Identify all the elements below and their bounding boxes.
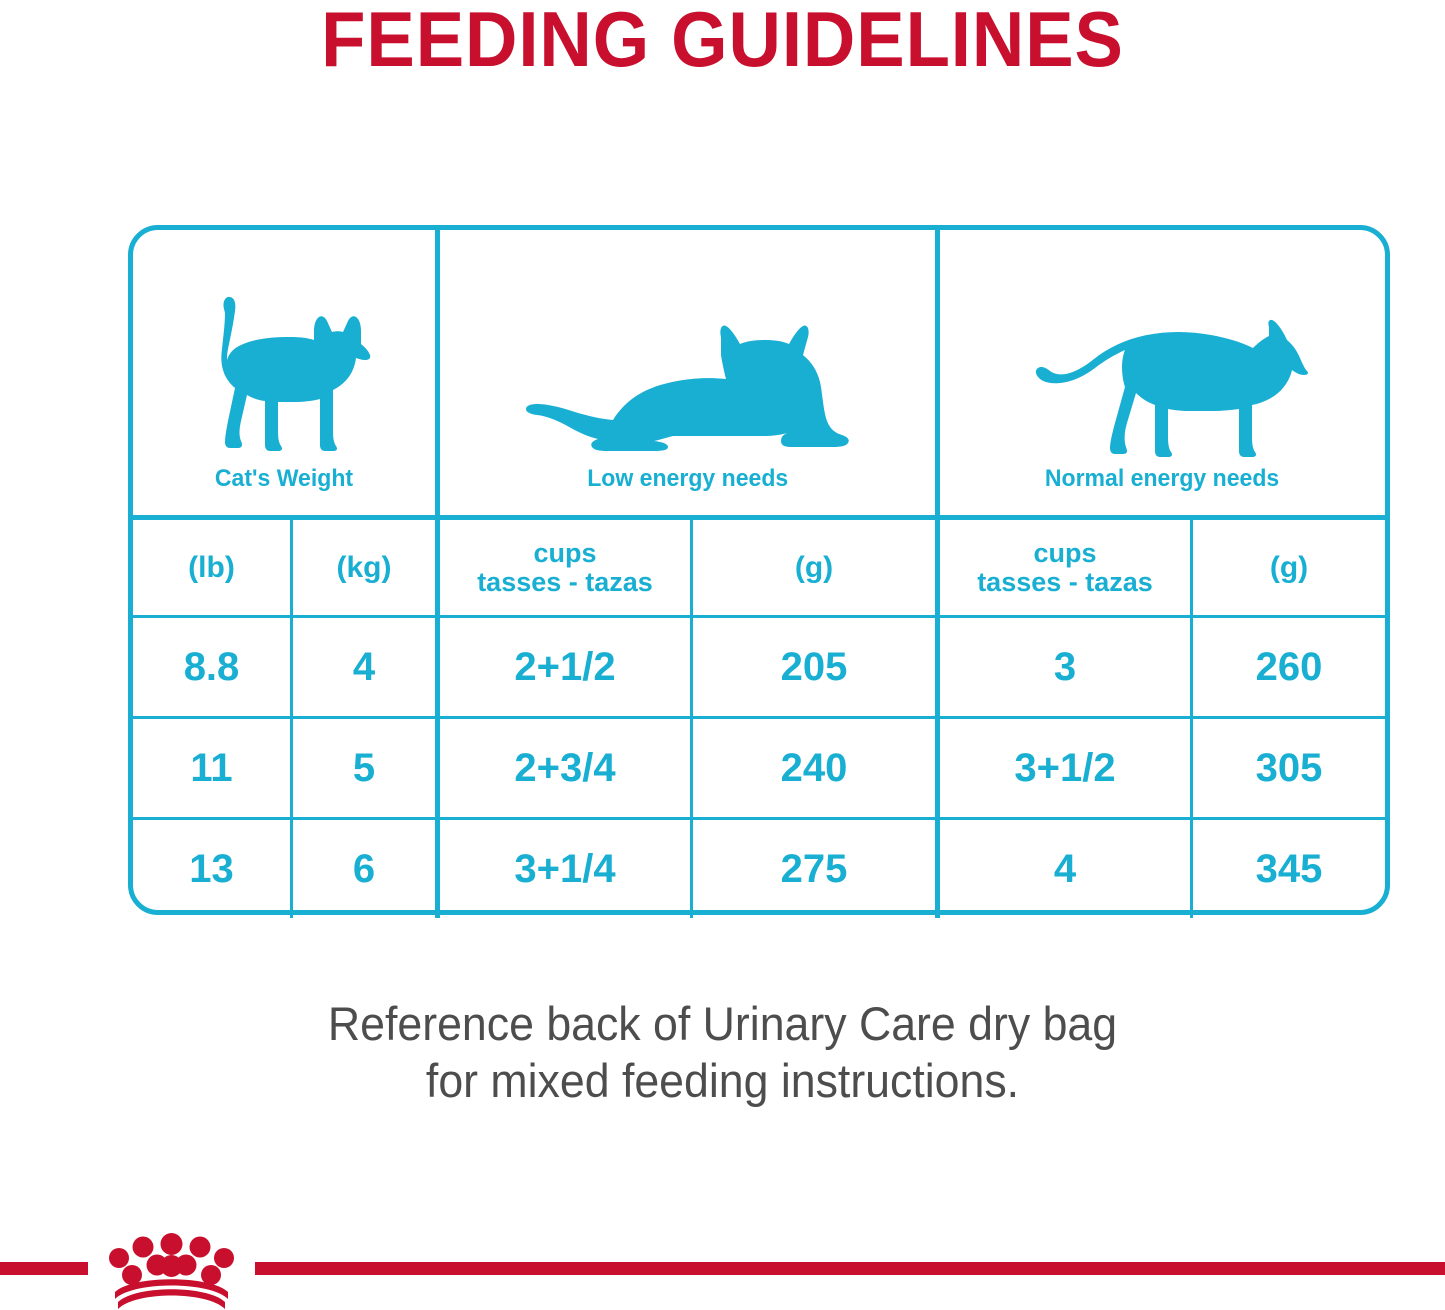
- unit-header-text: (g): [795, 552, 833, 583]
- cat-walking-icon: [940, 230, 1385, 459]
- table-row: 8.8 4 2+1/2 205 3 260: [133, 615, 1385, 716]
- unit-header-text: (kg): [337, 552, 392, 583]
- cell-weight-lb: 8.8: [133, 618, 290, 716]
- brand-footer: [0, 1232, 1445, 1310]
- group-header-cats-weight: Cat's Weight: [133, 230, 435, 515]
- footer-note-line1: Reference back of Urinary Care dry bag: [36, 995, 1409, 1052]
- cell-normal-cups: 3: [935, 618, 1190, 716]
- cell-normal-cups: 4: [935, 820, 1190, 918]
- cell-low-cups: 2+1/2: [435, 618, 690, 716]
- cell-normal-grams: 260: [1190, 618, 1385, 716]
- footer-note: Reference back of Urinary Care dry bag f…: [36, 995, 1409, 1110]
- cell-low-grams: 205: [690, 618, 935, 716]
- cat-standing-icon: [133, 230, 435, 459]
- unit-header-low-grams: (g): [690, 520, 935, 615]
- unit-header-kg: (kg): [290, 520, 435, 615]
- unit-header-text-line2: tasses - tazas: [477, 568, 653, 596]
- group-header-low-energy: Low energy needs: [435, 230, 935, 515]
- footer-note-line2: for mixed feeding instructions.: [36, 1052, 1409, 1109]
- page-title: FEEDING GUIDELINES: [51, 0, 1395, 85]
- group-header-label: Low energy needs: [587, 465, 788, 493]
- cell-weight-lb: 13: [133, 820, 290, 918]
- brand-rule-right: [255, 1262, 1445, 1275]
- cell-low-cups: 2+3/4: [435, 719, 690, 817]
- table-row: 13 6 3+1/4 275 4 345: [133, 817, 1385, 918]
- unit-header-normal-grams: (g): [1190, 520, 1385, 615]
- royal-canin-crown-logo: [88, 1232, 255, 1310]
- unit-header-normal-cups: cups tasses - tazas: [935, 520, 1190, 615]
- group-header-label: Cat's Weight: [215, 465, 353, 493]
- group-header-normal-energy: Normal energy needs: [935, 230, 1385, 515]
- unit-header-text-line1: cups: [977, 539, 1153, 567]
- unit-header-text: (lb): [188, 552, 235, 583]
- unit-header-text-line2: tasses - tazas: [977, 568, 1153, 596]
- cell-weight-kg: 4: [290, 618, 435, 716]
- table-icon-header-band: Cat's Weight Low energy needs Normal ene…: [133, 230, 1385, 515]
- feeding-guidelines-table: Cat's Weight Low energy needs Normal ene…: [128, 225, 1390, 915]
- table-row: 11 5 2+3/4 240 3+1/2 305: [133, 716, 1385, 817]
- unit-header-low-cups: cups tasses - tazas: [435, 520, 690, 615]
- cell-normal-grams: 345: [1190, 820, 1385, 918]
- cell-normal-cups: 3+1/2: [935, 719, 1190, 817]
- cell-weight-kg: 6: [290, 820, 435, 918]
- cell-normal-grams: 305: [1190, 719, 1385, 817]
- unit-header-lb: (lb): [133, 520, 290, 615]
- cell-weight-kg: 5: [290, 719, 435, 817]
- cell-low-cups: 3+1/4: [435, 820, 690, 918]
- table-unit-header-row: (lb) (kg) cups tasses - tazas (g) cups t…: [133, 515, 1385, 615]
- cell-low-grams: 240: [690, 719, 935, 817]
- cell-low-grams: 275: [690, 820, 935, 918]
- group-header-label: Normal energy needs: [1045, 465, 1279, 493]
- brand-rule-left: [0, 1262, 88, 1275]
- cell-weight-lb: 11: [133, 719, 290, 817]
- unit-header-text-line1: cups: [477, 539, 653, 567]
- cat-lying-icon: [440, 230, 935, 459]
- unit-header-text: (g): [1270, 552, 1308, 583]
